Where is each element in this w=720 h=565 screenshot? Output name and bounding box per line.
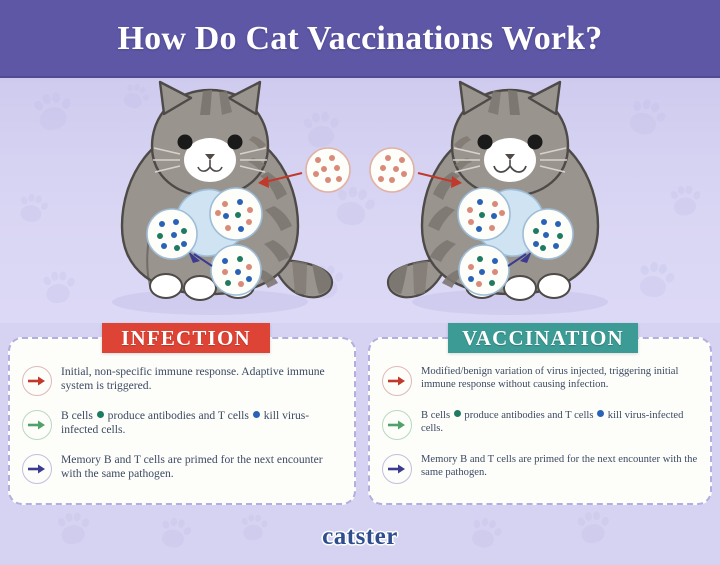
infection-banner: INFECTION (102, 323, 270, 353)
catster-logo[interactable]: catster (322, 523, 398, 551)
bullet-item: B cells produce antibodies and T cells k… (22, 409, 344, 440)
bullet-item: Memory B and T cells are primed for the … (382, 453, 700, 484)
infection-banner-label: INFECTION (121, 326, 251, 351)
virus-particle (370, 148, 414, 192)
paw-print-icon (580, 522, 607, 545)
infection-bullet-list: Initial, non-specific immune response. A… (22, 365, 344, 497)
bullet-text: Memory B and T cells are primed for the … (421, 453, 700, 480)
memory-cells (523, 209, 573, 259)
vaccination-card: VACCINATION Modified/benign variation of… (368, 337, 712, 505)
infection-cat-illustration (60, 78, 360, 323)
infographic-page: How Do Cat Vaccinations Work? (0, 0, 720, 565)
bullet-text: B cells produce antibodies and T cells k… (61, 409, 344, 437)
bullet-text: Initial, non-specific immune response. A… (61, 365, 344, 393)
arrow-right-blue-icon (22, 454, 52, 484)
immune-stage-2 (459, 245, 509, 295)
paw-print-icon (471, 528, 496, 549)
paw-print-icon (60, 523, 86, 546)
vaccination-banner: VACCINATION (448, 323, 638, 353)
b-cell-dot-icon (97, 411, 104, 418)
arrow-right-green-icon (22, 410, 52, 440)
virus-particle (306, 148, 350, 192)
vaccination-bullet-list: Modified/benign variation of virus injec… (382, 365, 700, 497)
illustration-area (0, 78, 720, 323)
vaccination-banner-label: VACCINATION (462, 326, 624, 351)
vaccination-cat-illustration (360, 78, 660, 323)
arrow-right-red-icon (22, 366, 52, 396)
b-cell-dot-icon (454, 410, 461, 417)
immune-stage-2 (211, 245, 261, 295)
arrow-right-red-icon (382, 366, 412, 396)
immune-stage-1 (210, 188, 262, 240)
immune-stage-1 (458, 188, 510, 240)
arrow-right-green-icon (382, 410, 412, 440)
bullet-text: Modified/benign variation of virus injec… (421, 365, 700, 392)
bullet-text: B cells produce antibodies and T cells k… (421, 409, 700, 436)
arrow-right-blue-icon (382, 454, 412, 484)
infection-card: INFECTION Initial, non-specific immune r… (8, 337, 356, 505)
bullet-item: Initial, non-specific immune response. A… (22, 365, 344, 396)
footer: catster (0, 508, 720, 565)
bullet-text: Memory B and T cells are primed for the … (61, 453, 344, 481)
bullet-item: B cells produce antibodies and T cells k… (382, 409, 700, 440)
bullet-item: Memory B and T cells are primed for the … (22, 453, 344, 484)
paw-print-icon (673, 196, 698, 217)
title-bar: How Do Cat Vaccinations Work? (0, 0, 720, 78)
page-title: How Do Cat Vaccinations Work? (117, 20, 602, 58)
t-cell-dot-icon (597, 410, 604, 417)
paw-print-icon (161, 528, 185, 548)
explanation-cards: INFECTION Initial, non-specific immune r… (0, 323, 720, 508)
memory-cells (147, 209, 197, 259)
t-cell-dot-icon (253, 411, 260, 418)
bullet-item: Modified/benign variation of virus injec… (382, 365, 700, 396)
paw-print-icon (243, 524, 264, 541)
paw-print-icon (20, 204, 42, 223)
